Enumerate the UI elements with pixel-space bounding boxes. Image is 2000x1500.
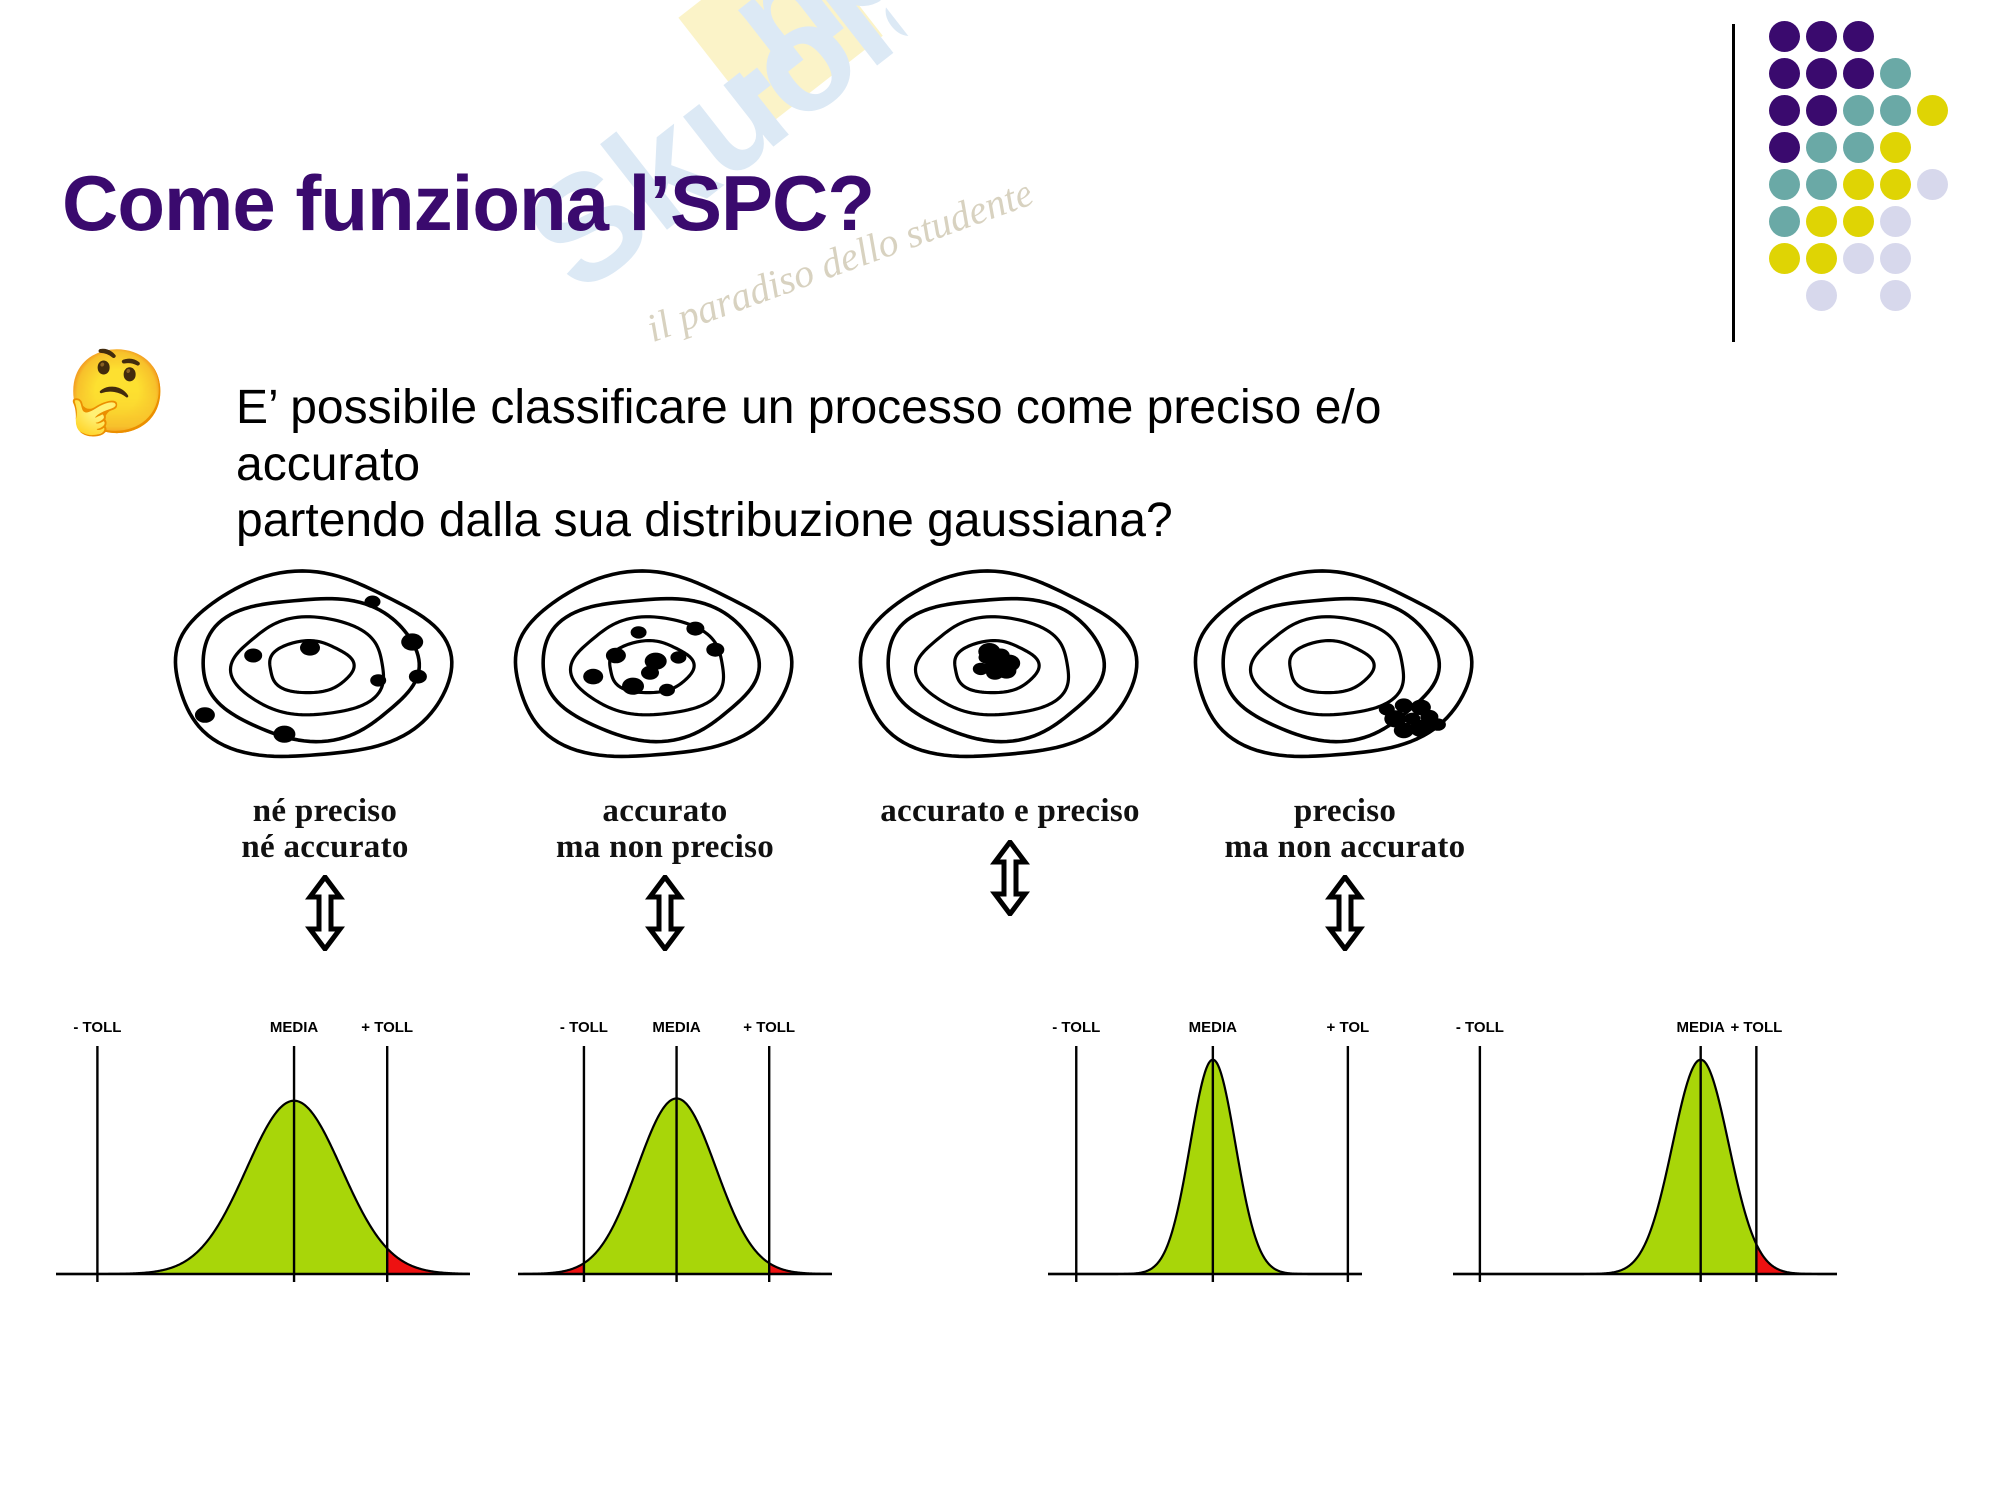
target-caption: né precisoné accurato bbox=[160, 794, 490, 865]
logo-dot-r5-c2 bbox=[1843, 206, 1874, 237]
target-caption: accurato e preciso bbox=[845, 794, 1175, 830]
logo-dot-r6-c1 bbox=[1806, 243, 1837, 274]
logo-dot-r2-c2 bbox=[1843, 95, 1874, 126]
target-caption-line-1: accurato bbox=[500, 794, 830, 830]
target-precise-not-accurate bbox=[1180, 555, 1510, 790]
logo-dot-r2-c0 bbox=[1769, 95, 1800, 126]
logo-dot-r0-c3 bbox=[1880, 21, 1911, 52]
svg-text:+ TOLL: + TOLL bbox=[361, 1019, 413, 1036]
logo-dot-r0-c4 bbox=[1917, 21, 1948, 52]
logo-dot-r6-c4 bbox=[1917, 243, 1948, 274]
logo-dot-r2-c3 bbox=[1880, 95, 1911, 126]
logo-vertical-rule bbox=[1732, 24, 1735, 342]
chart-accurate-not-precise: - TOLLMEDIA+ TOLL bbox=[510, 1000, 840, 1300]
slide-canvas: Skuola .net il paradiso dello studente C… bbox=[0, 0, 2000, 1500]
target-neither-precise-nor-accurate bbox=[160, 555, 490, 790]
logo-dot-r1-c4 bbox=[1917, 58, 1948, 89]
svg-text:- TOLL: - TOLL bbox=[1456, 1019, 1504, 1036]
svg-text:- TOLL: - TOLL bbox=[560, 1019, 608, 1036]
logo-dot-r2-c1 bbox=[1806, 95, 1837, 126]
panel-accurate-and-precise: accurato e preciso bbox=[845, 555, 1175, 916]
panel-precise-not-accurate: precisoma non accurato bbox=[1180, 555, 1510, 951]
watermark-suffix-text: .net bbox=[662, 0, 976, 130]
logo-dot-r7-c0 bbox=[1769, 280, 1800, 311]
logo-dot-r4-c2 bbox=[1843, 169, 1874, 200]
target-caption-line-2: ma non preciso bbox=[500, 830, 830, 866]
logo-dot-r1-c3 bbox=[1880, 58, 1911, 89]
logo-dot-r1-c0 bbox=[1769, 58, 1800, 89]
logo-dot-r7-c3 bbox=[1880, 280, 1911, 311]
chart-neither-precise-nor-accurate: - TOLLMEDIA+ TOLL bbox=[48, 1000, 478, 1300]
logo-dot-r4-c0 bbox=[1769, 169, 1800, 200]
target-caption-line-1: preciso bbox=[1180, 794, 1510, 830]
logo-dot-r1-c2 bbox=[1843, 58, 1874, 89]
double-headed-vertical-arrow-icon bbox=[500, 875, 830, 951]
target-caption-line-2: ma non accurato bbox=[1180, 830, 1510, 866]
target-caption-line-1: accurato e preciso bbox=[845, 794, 1175, 830]
chart-precise-not-accurate: - TOLLMEDIA+ TOLL bbox=[1445, 1000, 1845, 1300]
logo-dot-r0-c2 bbox=[1843, 21, 1874, 52]
logo-dot-r4-c1 bbox=[1806, 169, 1837, 200]
logo-dot-r6-c0 bbox=[1769, 243, 1800, 274]
question-text: E’ possibile classificare un processo co… bbox=[236, 380, 1536, 550]
target-accurate-not-precise bbox=[500, 555, 830, 790]
logo-dot-r3-c2 bbox=[1843, 132, 1874, 163]
target-accurate-and-precise bbox=[845, 555, 1175, 790]
logo-dot-r7-c2 bbox=[1843, 280, 1874, 311]
question-line-2: partendo dalla sua distribuzione gaussia… bbox=[236, 493, 1536, 550]
svg-text:MEDIA: MEDIA bbox=[1677, 1019, 1726, 1036]
svg-text:MEDIA: MEDIA bbox=[270, 1019, 319, 1036]
svg-text:+ TOL: + TOL bbox=[1327, 1019, 1370, 1036]
brand-logo bbox=[1722, 18, 1992, 348]
target-caption: accuratoma non preciso bbox=[500, 794, 830, 865]
svg-text:MEDIA: MEDIA bbox=[1189, 1019, 1238, 1036]
question-line-1: E’ possibile classificare un processo co… bbox=[236, 380, 1536, 493]
logo-dot-r6-c2 bbox=[1843, 243, 1874, 274]
svg-text:- TOLL: - TOLL bbox=[1052, 1019, 1100, 1036]
logo-dot-r4-c3 bbox=[1880, 169, 1911, 200]
svg-text:+ TOLL: + TOLL bbox=[743, 1019, 795, 1036]
logo-dot-r1-c1 bbox=[1806, 58, 1837, 89]
logo-dot-r5-c4 bbox=[1917, 206, 1948, 237]
logo-dot-r3-c3 bbox=[1880, 132, 1911, 163]
double-headed-vertical-arrow-icon bbox=[160, 875, 490, 951]
panel-accurate-not-precise: accuratoma non preciso bbox=[500, 555, 830, 951]
logo-dot-r7-c1 bbox=[1806, 280, 1837, 311]
logo-dot-grid bbox=[1766, 18, 1951, 314]
logo-dot-r3-c1 bbox=[1806, 132, 1837, 163]
logo-dot-r4-c4 bbox=[1917, 169, 1948, 200]
svg-text:- TOLL: - TOLL bbox=[73, 1019, 121, 1036]
target-caption-line-1: né preciso bbox=[160, 794, 490, 830]
logo-dot-r3-c0 bbox=[1769, 132, 1800, 163]
double-headed-vertical-arrow-icon bbox=[845, 840, 1175, 916]
logo-dot-r0-c0 bbox=[1769, 21, 1800, 52]
logo-dot-r5-c3 bbox=[1880, 206, 1911, 237]
thinking-face-emoji: 🤔 bbox=[66, 352, 168, 434]
chart-accurate-and-precise: - TOLLMEDIA+ TOL bbox=[1040, 1000, 1370, 1300]
logo-dot-r0-c1 bbox=[1806, 21, 1837, 52]
svg-text:MEDIA: MEDIA bbox=[652, 1019, 701, 1036]
svg-text:+ TOLL: + TOLL bbox=[1730, 1019, 1782, 1036]
logo-dot-r7-c4 bbox=[1917, 280, 1948, 311]
logo-dot-r5-c1 bbox=[1806, 206, 1837, 237]
logo-dot-r5-c0 bbox=[1769, 206, 1800, 237]
logo-dot-r6-c3 bbox=[1880, 243, 1911, 274]
target-caption: precisoma non accurato bbox=[1180, 794, 1510, 865]
logo-dot-r2-c4 bbox=[1917, 95, 1948, 126]
panel-neither-precise-nor-accurate: né precisoné accurato bbox=[160, 555, 490, 951]
target-caption-line-2: né accurato bbox=[160, 830, 490, 866]
logo-dot-r3-c4 bbox=[1917, 132, 1948, 163]
double-headed-vertical-arrow-icon bbox=[1180, 875, 1510, 951]
page-title: Come funziona l’SPC? bbox=[62, 158, 874, 249]
